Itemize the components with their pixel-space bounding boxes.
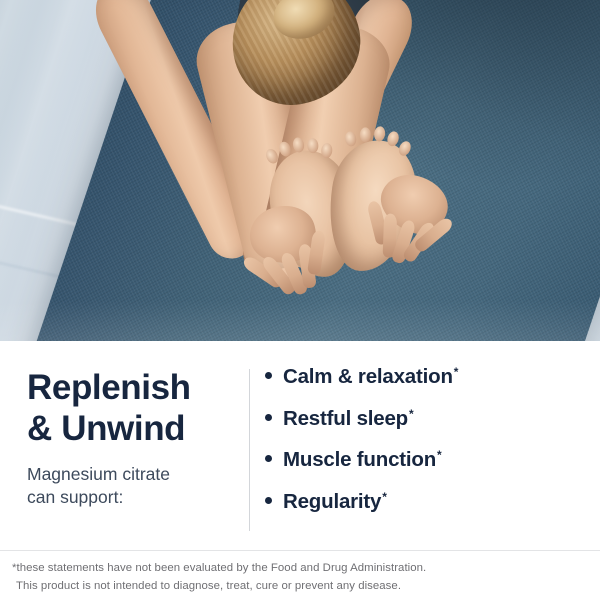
bullet-icon <box>265 372 272 379</box>
bullet-icon <box>265 455 272 462</box>
list-item: Calm & relaxation* <box>265 366 600 388</box>
hero-photo <box>0 0 600 341</box>
list-item: Muscle function* <box>265 449 600 471</box>
disclaimer-footer: *these statements have not been evaluate… <box>0 550 600 600</box>
headline-column: Replenish & Unwind Magnesium citrate can… <box>0 341 249 550</box>
toe <box>307 138 319 153</box>
asterisk-marker: * <box>382 490 386 504</box>
asterisk-marker: * <box>454 365 458 379</box>
disclaimer-line-1: *these statements have not been evaluate… <box>12 560 600 578</box>
benefits-list: Calm & relaxation* Restful sleep* Muscle… <box>249 341 600 550</box>
subtitle: Magnesium citrate can support: <box>27 463 249 510</box>
bullet-icon <box>265 414 272 421</box>
asterisk-marker: * <box>437 448 441 462</box>
page-title: Replenish & Unwind <box>27 367 249 450</box>
list-item: Restful sleep* <box>265 408 600 430</box>
bullet-icon <box>265 497 272 504</box>
list-item: Regularity* <box>265 491 600 513</box>
disclaimer-line-2: This product is not intended to diagnose… <box>12 578 600 596</box>
benefit-label: Muscle function* <box>283 449 442 471</box>
vertical-divider <box>249 369 250 531</box>
product-benefit-card: Replenish & Unwind Magnesium citrate can… <box>0 0 600 600</box>
benefit-label: Calm & relaxation* <box>283 366 458 388</box>
toe <box>360 127 371 142</box>
benefit-label: Regularity* <box>283 491 387 513</box>
content-area: Replenish & Unwind Magnesium citrate can… <box>0 341 600 550</box>
benefit-label: Restful sleep* <box>283 408 413 430</box>
asterisk-marker: * <box>409 407 413 421</box>
